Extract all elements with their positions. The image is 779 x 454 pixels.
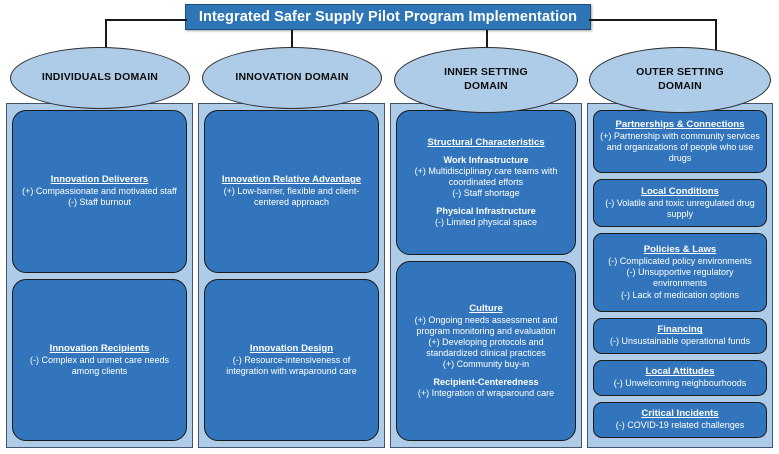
box-structural-characteristics[interactable]: Structural Characteristics Work Infrastr… xyxy=(396,110,576,255)
box-policies-laws[interactable]: Policies & Laws (-) Complicated policy e… xyxy=(593,233,767,312)
box-subheading: Recipient-Centeredness xyxy=(433,377,538,389)
domain-label-text: INNOVATION DOMAIN xyxy=(235,71,348,85)
domain-label-line1: INNER SETTING xyxy=(444,66,528,78)
domain-label-innovation[interactable]: INNOVATION DOMAIN xyxy=(202,47,382,109)
connector-horizontal-left xyxy=(105,19,187,21)
box-heading: Policies & Laws xyxy=(644,244,717,256)
box-heading: Culture xyxy=(469,303,503,315)
box-culture[interactable]: Culture (+) Ongoing needs assessment and… xyxy=(396,261,576,441)
box-heading: Innovation Deliverers xyxy=(51,174,149,186)
box-line: (+) Multidisciplinary care teams with co… xyxy=(403,166,569,188)
box-line: (+) Compassionate and motivated staff xyxy=(22,186,177,197)
box-heading: Innovation Design xyxy=(250,343,333,355)
box-partnerships-connections[interactable]: Partnerships & Connections (+) Partnersh… xyxy=(593,110,767,173)
connector-horizontal-right xyxy=(589,19,717,21)
box-financing[interactable]: Financing (-) Unsustainable operational … xyxy=(593,318,767,354)
domain-label-text-wrap: OUTER SETTING DOMAIN xyxy=(636,66,724,94)
box-line: (-) Staff shortage xyxy=(452,188,519,199)
diagram-canvas: Integrated Safer Supply Pilot Program Im… xyxy=(0,0,779,454)
box-line: (-) Resource-intensiveness of integratio… xyxy=(211,355,372,377)
box-line: (+) Ongoing needs assessment and program… xyxy=(403,315,569,337)
domain-label-text-wrap: INNER SETTING DOMAIN xyxy=(444,66,528,94)
box-heading: Innovation Relative Advantage xyxy=(222,174,361,186)
column-innovation-domain: Innovation Relative Advantage (+) Low-ba… xyxy=(198,103,385,448)
box-line: (-) Lack of medication options xyxy=(621,290,739,301)
box-line: (-) Unsustainable operational funds xyxy=(610,336,750,347)
box-heading: Critical Incidents xyxy=(641,408,718,420)
box-heading: Innovation Recipients xyxy=(50,343,150,355)
box-line: (-) Limited physical space xyxy=(435,217,537,228)
box-line: (+) Integration of wraparound care xyxy=(418,388,554,399)
box-line: (-) Unwelcoming neighbourhoods xyxy=(614,378,747,389)
box-line: (+) Partnership with community services … xyxy=(600,131,760,164)
box-heading: Local Conditions xyxy=(641,186,719,198)
domain-label-outer-setting[interactable]: OUTER SETTING DOMAIN xyxy=(589,47,771,113)
box-local-conditions[interactable]: Local Conditions (-) Volatile and toxic … xyxy=(593,179,767,227)
box-line: (-) Complicated policy environments xyxy=(608,256,752,267)
box-line: (+) Community buy-in xyxy=(443,359,529,370)
program-title-bar: Integrated Safer Supply Pilot Program Im… xyxy=(185,4,591,30)
box-innovation-recipients[interactable]: Innovation Recipients (-) Complex and un… xyxy=(12,279,187,442)
box-innovation-deliverers[interactable]: Innovation Deliverers (+) Compassionate … xyxy=(12,110,187,273)
domain-label-inner-setting[interactable]: INNER SETTING DOMAIN xyxy=(394,47,578,113)
domain-label-text: INDIVIDUALS DOMAIN xyxy=(42,71,158,85)
box-line: (+) Low-barrier, flexible and client-cen… xyxy=(211,186,372,208)
box-heading: Financing xyxy=(657,324,702,336)
box-line: (-) Complex and unmet care needs among c… xyxy=(19,355,180,377)
box-critical-incidents[interactable]: Critical Incidents (-) COVID-19 related … xyxy=(593,402,767,438)
column-outer-setting-domain: Partnerships & Connections (+) Partnersh… xyxy=(587,103,773,448)
box-subheading: Physical Infrastructure xyxy=(436,206,536,218)
box-heading: Local Attitudes xyxy=(646,366,715,378)
box-innovation-design[interactable]: Innovation Design (-) Resource-intensive… xyxy=(204,279,379,442)
box-subheading: Work Infrastructure xyxy=(443,155,528,167)
box-heading: Structural Characteristics xyxy=(427,137,544,149)
domain-label-individuals[interactable]: INDIVIDUALS DOMAIN xyxy=(10,47,190,109)
box-heading: Partnerships & Connections xyxy=(615,119,744,131)
box-line: (-) Staff burnout xyxy=(68,197,131,208)
box-line: (-) Volatile and toxic unregulated drug … xyxy=(600,198,760,220)
domain-label-line2: DOMAIN xyxy=(658,80,702,92)
domain-label-line2: DOMAIN xyxy=(464,80,508,92)
box-innovation-relative-advantage[interactable]: Innovation Relative Advantage (+) Low-ba… xyxy=(204,110,379,273)
box-local-attitudes[interactable]: Local Attitudes (-) Unwelcoming neighbou… xyxy=(593,360,767,396)
column-individuals-domain: Innovation Deliverers (+) Compassionate … xyxy=(6,103,193,448)
box-line: (-) COVID-19 related challenges xyxy=(616,420,745,431)
domain-label-line1: OUTER SETTING xyxy=(636,66,724,78)
box-line: (+) Developing protocols and standardize… xyxy=(403,337,569,359)
page-title: Integrated Safer Supply Pilot Program Im… xyxy=(199,9,577,25)
column-inner-setting-domain: Structural Characteristics Work Infrastr… xyxy=(390,103,582,448)
box-line: (-) Unsupportive regulatory environments xyxy=(600,267,760,289)
